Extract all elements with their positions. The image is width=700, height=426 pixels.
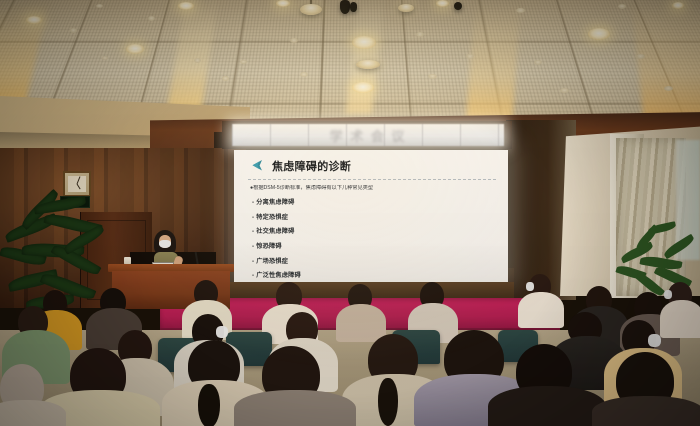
ceiling-downlight xyxy=(96,4,103,8)
ceiling-downlight xyxy=(178,2,194,10)
slide-lead-text: ●根据DSM-5诊断标准，焦虑障碍有以下几种常见类型 xyxy=(250,185,498,191)
ceiling-downlight xyxy=(664,86,673,91)
list-item: 广泛性焦虑障碍 xyxy=(252,270,498,279)
ceiling-downlight xyxy=(222,76,229,81)
ceiling-pendant-light xyxy=(398,4,414,12)
list-item: 广场恐惧症 xyxy=(252,256,498,265)
ceiling-pendant-light xyxy=(300,4,322,15)
ceiling-downlight xyxy=(290,38,298,43)
ceiling-downlight xyxy=(534,60,542,65)
list-item: 社交焦虑障碍 xyxy=(252,226,498,235)
slide-divider xyxy=(248,179,498,180)
clock-hour-hand xyxy=(77,184,81,190)
ceiling-speaker xyxy=(350,2,357,12)
ceiling-downlight xyxy=(672,2,684,9)
ceiling-downlight xyxy=(70,28,77,33)
clock-face xyxy=(68,176,86,192)
ceiling-downlight xyxy=(352,36,376,49)
ceiling-speaker xyxy=(454,2,462,10)
ceiling-downlight xyxy=(428,74,437,79)
wall-clock xyxy=(63,171,91,197)
illuminated-banner: 学 术 会 议 xyxy=(232,124,504,146)
ceiling-downlight xyxy=(636,54,645,59)
ceiling-downlight xyxy=(26,16,42,24)
ceiling-downlight xyxy=(276,0,290,7)
ceiling-downlight xyxy=(240,60,247,64)
banner-text: 学 术 会 议 xyxy=(232,124,504,146)
chevron-arrow-logo-icon xyxy=(248,159,265,174)
ceiling-downlight xyxy=(126,44,144,54)
ceiling-downlight xyxy=(148,16,155,21)
slide-title: 焦虑障碍的诊断 xyxy=(272,158,351,174)
ceiling-downlight xyxy=(588,28,610,40)
ceiling-downlight xyxy=(300,72,308,77)
ceiling-pendant-light xyxy=(356,60,380,69)
clock-minute-hand xyxy=(77,176,81,184)
slide-header: 焦虑障碍的诊断 xyxy=(248,158,498,174)
ceiling-downlight xyxy=(560,88,569,93)
ceiling-downlight xyxy=(466,54,474,59)
ceiling-downlight xyxy=(436,0,449,7)
ceiling-downlight xyxy=(102,56,108,60)
face-mask-icon xyxy=(159,240,171,248)
lecture-hall-photo: EXIT 学 术 会 议 焦虑障碍的诊断 xyxy=(0,0,700,426)
list-item: 分离焦虑障碍 xyxy=(252,197,498,206)
presentation-slide: 焦虑障碍的诊断 ●根据DSM-5诊断标准，焦虑障碍有以下几种常见类型 分离焦虑障… xyxy=(234,150,508,282)
ceiling-downlight xyxy=(516,8,525,13)
ceiling-downlight xyxy=(352,82,374,93)
list-item: 特定恐惧症 xyxy=(252,212,498,221)
slide-bullet-list: 分离焦虑障碍 特定恐惧症 社交焦虑障碍 惊恐障碍 广场恐惧症 广泛性焦虑障碍 xyxy=(248,197,498,279)
ceiling-downlight xyxy=(618,4,626,9)
ceiling-downlight xyxy=(416,32,424,37)
projection-screen: 焦虑障碍的诊断 ●根据DSM-5诊断标准，焦虑障碍有以下几种常见类型 分离焦虑障… xyxy=(234,150,508,282)
list-item: 惊恐障碍 xyxy=(252,241,498,250)
ceiling-downlight xyxy=(194,58,201,63)
ceiling-speaker xyxy=(340,0,350,14)
